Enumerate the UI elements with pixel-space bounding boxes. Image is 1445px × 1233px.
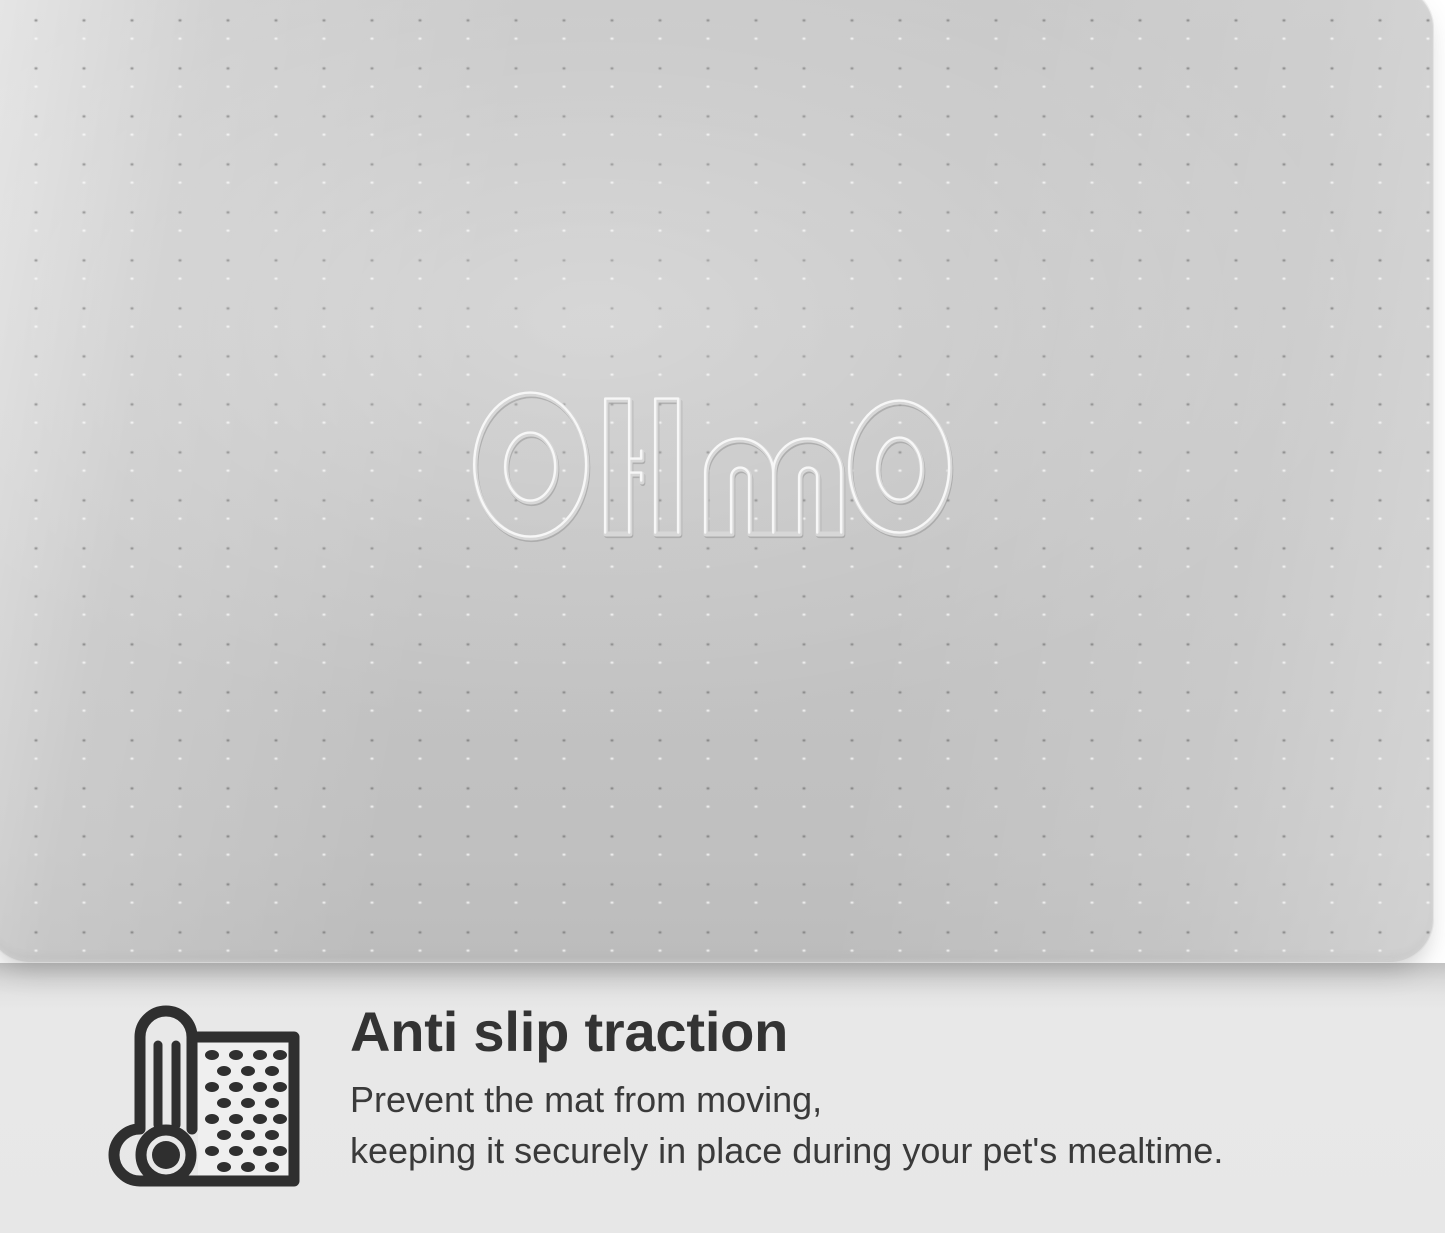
mat-edge-bevel <box>0 0 1434 963</box>
feature-description-line-1: Prevent the mat from moving, <box>350 1074 1223 1125</box>
silicone-pet-mat <box>0 0 1434 963</box>
mat-surface-sheen <box>0 0 1434 963</box>
feature-description-line-2: keeping it securely in place during your… <box>350 1125 1223 1176</box>
feature-title: Anti slip traction <box>350 1003 1223 1062</box>
feature-description: Prevent the mat from moving, keeping it … <box>350 1074 1223 1176</box>
embossed-brand-logo <box>470 388 954 544</box>
anti-slip-nub-texture <box>0 0 1434 963</box>
product-feature-image: Anti slip traction Prevent the mat from … <box>0 0 1445 1233</box>
feature-callout: Anti slip traction Prevent the mat from … <box>0 995 1445 1205</box>
rolled-mat-with-nubs-icon <box>108 1003 308 1193</box>
feature-text-block: Anti slip traction Prevent the mat from … <box>350 1003 1223 1176</box>
